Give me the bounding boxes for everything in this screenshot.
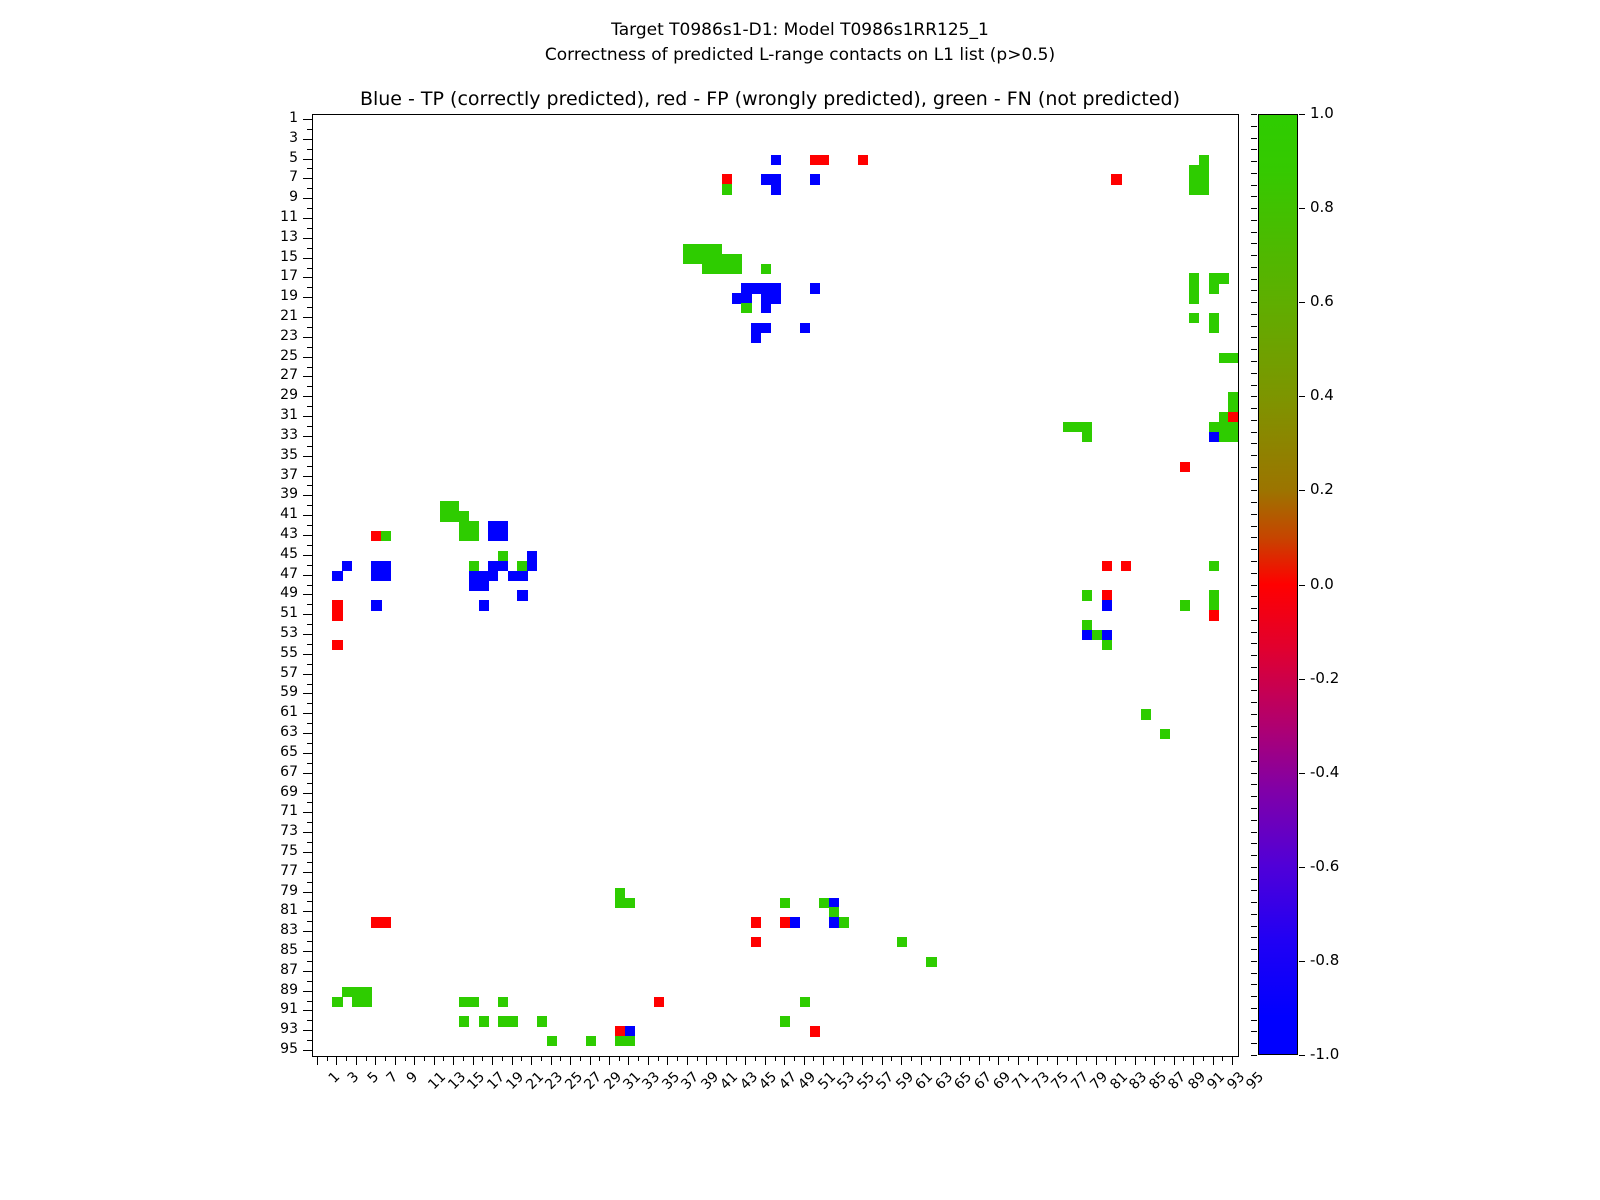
- y-axis-tick: [303, 119, 312, 120]
- y-axis-tick-label: 5: [238, 150, 298, 166]
- contact-cell: [1219, 353, 1229, 363]
- contact-cell: [722, 254, 732, 264]
- colorbar-tick: [1299, 302, 1305, 303]
- y-axis-tick-label: 13: [238, 229, 298, 245]
- y-axis-tick: [307, 585, 312, 586]
- y-axis-tick: [303, 951, 312, 952]
- contact-cell: [459, 531, 469, 541]
- contact-cell: [771, 293, 781, 303]
- contact-cell: [469, 571, 479, 581]
- y-axis-tick-label: 69: [238, 784, 298, 800]
- contact-cell: [810, 174, 820, 184]
- colorbar-minor-tick: [1251, 643, 1257, 644]
- contact-cell: [1219, 432, 1229, 442]
- legend-subtitle: Blue - TP (correctly predicted), red - F…: [0, 88, 1540, 110]
- x-axis-tick: [590, 1056, 591, 1065]
- colorbar-minor-tick: [1251, 596, 1257, 597]
- x-axis-tick: [658, 1056, 659, 1061]
- colorbar-minor-tick: [1251, 161, 1257, 162]
- colorbar-minor-tick: [1251, 220, 1257, 221]
- x-axis-tick: [551, 1056, 552, 1065]
- y-axis-tick: [307, 604, 312, 605]
- colorbar-minor-tick: [1251, 114, 1257, 115]
- contact-cell: [771, 174, 781, 184]
- y-axis-tick: [303, 515, 312, 516]
- colorbar-minor-tick: [1251, 867, 1257, 868]
- y-axis-tick: [303, 852, 312, 853]
- colorbar-minor-tick: [1251, 855, 1257, 856]
- contact-cell: [722, 264, 732, 274]
- x-axis-tick: [677, 1056, 678, 1061]
- contact-cell: [702, 254, 712, 264]
- contact-cell: [761, 323, 771, 333]
- y-axis-tick: [307, 743, 312, 744]
- y-axis-tick: [303, 436, 312, 437]
- x-axis-tick: [1193, 1056, 1194, 1065]
- x-axis-tick: [482, 1056, 483, 1061]
- contact-cell: [1082, 422, 1092, 432]
- colorbar-tick-label: -0.6: [1310, 857, 1339, 875]
- contact-cell: [1209, 283, 1219, 293]
- y-axis-tick-label: 37: [238, 467, 298, 483]
- y-axis-tick-label: 65: [238, 744, 298, 760]
- y-axis-tick: [307, 505, 312, 506]
- y-axis-tick: [303, 594, 312, 595]
- contact-cell: [615, 888, 625, 898]
- contact-cell: [712, 254, 722, 264]
- x-axis-tick: [512, 1056, 513, 1065]
- x-axis-tick: [1145, 1056, 1146, 1061]
- contact-cell: [1180, 600, 1190, 610]
- y-axis-tick-label: 61: [238, 704, 298, 720]
- y-axis-tick-label: 55: [238, 645, 298, 661]
- y-axis-tick-label: 83: [238, 922, 298, 938]
- colorbar-tick-label: 0.4: [1310, 386, 1334, 404]
- contact-cell: [1219, 273, 1229, 283]
- colorbar-minor-tick: [1251, 149, 1257, 150]
- y-axis-tick-label: 51: [238, 605, 298, 621]
- y-axis-tick: [307, 367, 312, 368]
- x-axis-tick: [1115, 1056, 1116, 1065]
- x-axis-tick: [1086, 1056, 1087, 1061]
- x-axis-tick: [716, 1056, 717, 1061]
- contact-cell: [1209, 561, 1219, 571]
- y-axis-tick: [307, 882, 312, 883]
- contact-cell: [332, 997, 342, 1007]
- x-axis-tick: [395, 1056, 396, 1065]
- contact-cell: [332, 610, 342, 620]
- colorbar-minor-tick: [1251, 984, 1257, 985]
- colorbar-minor-tick: [1251, 208, 1257, 209]
- colorbar-minor-tick: [1251, 314, 1257, 315]
- colorbar-tick: [1299, 208, 1305, 209]
- y-axis-tick: [307, 1020, 312, 1021]
- y-axis-tick: [307, 149, 312, 150]
- x-axis-tick: [405, 1056, 406, 1061]
- y-axis-tick: [307, 545, 312, 546]
- x-axis-tick-label: 3: [345, 1069, 363, 1087]
- y-axis-tick: [303, 812, 312, 813]
- colorbar-minor-tick: [1251, 620, 1257, 621]
- contact-cell: [829, 907, 839, 917]
- x-axis-tick: [1203, 1056, 1204, 1061]
- x-axis-tick: [813, 1056, 814, 1061]
- contact-cell: [926, 957, 936, 967]
- contact-cell: [498, 551, 508, 561]
- contact-cell: [586, 1036, 596, 1046]
- contact-cell: [488, 571, 498, 581]
- contact-cell: [371, 571, 381, 581]
- contact-cell: [1209, 313, 1219, 323]
- y-axis-tick: [307, 802, 312, 803]
- contact-cell: [1228, 392, 1238, 402]
- y-axis-tick-label: 57: [238, 665, 298, 681]
- y-axis-tick: [303, 337, 312, 338]
- contact-cell: [517, 561, 527, 571]
- y-axis-tick: [303, 396, 312, 397]
- contact-map-figure: Target T0986s1-D1: Model T0986s1RR125_1 …: [0, 0, 1600, 1200]
- contact-cell: [1209, 432, 1219, 442]
- y-axis-tick: [307, 981, 312, 982]
- y-axis-tick: [303, 238, 312, 239]
- contact-cell: [1141, 709, 1151, 719]
- colorbar-minor-tick: [1251, 655, 1257, 656]
- y-axis-tick-label: 47: [238, 566, 298, 582]
- contact-cell: [1189, 165, 1199, 175]
- colorbar-minor-tick: [1251, 196, 1257, 197]
- y-axis-tick: [307, 565, 312, 566]
- y-axis-tick-label: 67: [238, 764, 298, 780]
- colorbar-minor-tick: [1251, 737, 1257, 738]
- x-axis-tick: [1037, 1056, 1038, 1065]
- contact-cell: [508, 1016, 518, 1026]
- contact-cell: [459, 997, 469, 1007]
- contact-cell: [1209, 600, 1219, 610]
- contact-cell: [615, 898, 625, 908]
- contact-cell: [488, 561, 498, 571]
- colorbar-tick-label: 0.0: [1310, 575, 1334, 593]
- y-axis-tick-label: 27: [238, 367, 298, 383]
- contact-cell: [1082, 590, 1092, 600]
- x-axis-tick-label: 1: [325, 1069, 343, 1087]
- colorbar-tick: [1299, 396, 1305, 397]
- x-axis-tick: [794, 1056, 795, 1061]
- y-axis-tick-label: 89: [238, 982, 298, 998]
- x-axis-tick: [726, 1056, 727, 1065]
- x-axis-tick: [969, 1056, 970, 1061]
- x-axis-tick: [648, 1056, 649, 1065]
- contact-cell: [547, 1036, 557, 1046]
- title-line-2: Correctness of predicted L-range contact…: [0, 43, 1600, 68]
- colorbar-minor-tick: [1251, 514, 1257, 515]
- contact-cell: [332, 600, 342, 610]
- y-axis-tick: [303, 872, 312, 873]
- x-axis-tick: [872, 1056, 873, 1061]
- contact-cell: [332, 640, 342, 650]
- contact-cell: [1189, 313, 1199, 323]
- colorbar-tick: [1299, 679, 1305, 680]
- contact-cell: [1121, 561, 1131, 571]
- x-axis-tick: [1154, 1056, 1155, 1065]
- y-axis-tick-label: 87: [238, 962, 298, 978]
- y-axis-tick-label: 95: [238, 1041, 298, 1057]
- x-axis-tick: [667, 1056, 668, 1065]
- y-axis-tick: [307, 961, 312, 962]
- colorbar-minor-tick: [1251, 349, 1257, 350]
- colorbar-minor-tick: [1251, 467, 1257, 468]
- contact-cell: [440, 501, 450, 511]
- contact-cell: [771, 155, 781, 165]
- colorbar-minor-tick: [1251, 490, 1257, 491]
- colorbar-minor-tick: [1251, 702, 1257, 703]
- y-axis-tick: [303, 1050, 312, 1051]
- colorbar-minor-tick: [1251, 573, 1257, 574]
- x-axis-tick: [862, 1056, 863, 1065]
- x-axis-tick: [1164, 1056, 1165, 1061]
- x-axis-tick: [843, 1056, 844, 1065]
- contact-cell: [693, 254, 703, 264]
- colorbar-minor-tick: [1251, 632, 1257, 633]
- y-axis-tick: [303, 376, 312, 377]
- contact-cell: [1228, 412, 1238, 422]
- x-axis-tick: [560, 1056, 561, 1061]
- contact-cell: [1209, 273, 1219, 283]
- y-axis-tick: [307, 426, 312, 427]
- y-axis-tick: [307, 703, 312, 704]
- contact-cell: [722, 174, 732, 184]
- contact-cell: [839, 917, 849, 927]
- contact-cell: [761, 174, 771, 184]
- contact-cell: [440, 511, 450, 521]
- contact-cell: [810, 283, 820, 293]
- y-axis-tick-label: 81: [238, 902, 298, 918]
- colorbar-minor-tick: [1251, 773, 1257, 774]
- contact-cell: [508, 571, 518, 581]
- x-axis-tick: [327, 1056, 328, 1061]
- x-axis-tick: [1232, 1056, 1233, 1065]
- colorbar-minor-tick: [1251, 1008, 1257, 1009]
- contact-cell: [371, 600, 381, 610]
- contact-cell: [829, 898, 839, 908]
- x-axis-tick: [628, 1056, 629, 1065]
- colorbar-minor-tick: [1251, 502, 1257, 503]
- colorbar-minor-tick: [1251, 408, 1257, 409]
- contact-cell: [479, 600, 489, 610]
- contact-map-cells: [313, 115, 1238, 1056]
- contact-cell: [362, 997, 372, 1007]
- contact-cell: [469, 581, 479, 591]
- x-axis-tick: [424, 1056, 425, 1061]
- colorbar-tick: [1299, 1055, 1305, 1056]
- y-axis-tick: [303, 931, 312, 932]
- x-axis-tick: [706, 1056, 707, 1065]
- title-line-1: Target T0986s1-D1: Model T0986s1RR125_1: [0, 18, 1600, 43]
- contact-cell: [342, 561, 352, 571]
- x-axis-tick: [755, 1056, 756, 1061]
- contact-cell: [352, 997, 362, 1007]
- contact-cell: [751, 323, 761, 333]
- x-axis-tick: [1018, 1056, 1019, 1065]
- colorbar-minor-tick: [1251, 784, 1257, 785]
- contact-cell: [751, 333, 761, 343]
- colorbar: [1258, 114, 1298, 1055]
- colorbar-minor-tick: [1251, 961, 1257, 962]
- x-axis-tick: [521, 1056, 522, 1061]
- contact-cell: [469, 561, 479, 571]
- y-axis-tick: [303, 416, 312, 417]
- contact-cell: [459, 521, 469, 531]
- x-axis-tick: [1213, 1056, 1214, 1065]
- x-axis-tick: [745, 1056, 746, 1065]
- contact-cell: [751, 283, 761, 293]
- x-axis-tick: [443, 1056, 444, 1061]
- y-axis-tick: [303, 159, 312, 160]
- x-axis-tick: [784, 1056, 785, 1065]
- contact-cell: [702, 244, 712, 254]
- colorbar-minor-tick: [1251, 432, 1257, 433]
- contact-cell: [498, 997, 508, 1007]
- y-axis-tick-label: 33: [238, 427, 298, 443]
- colorbar-minor-tick: [1251, 914, 1257, 915]
- y-axis-tick: [303, 555, 312, 556]
- x-axis-tick: [492, 1056, 493, 1065]
- x-axis-tick: [960, 1056, 961, 1065]
- contact-cell: [1219, 422, 1229, 432]
- contact-cell: [381, 531, 391, 541]
- contact-cell: [1199, 155, 1209, 165]
- x-axis-tick: [531, 1056, 532, 1065]
- contact-cell: [654, 997, 664, 1007]
- colorbar-minor-tick: [1251, 302, 1257, 303]
- x-axis-tick: [950, 1056, 951, 1061]
- y-axis-tick: [307, 1040, 312, 1041]
- contact-cell: [780, 917, 790, 927]
- colorbar-minor-tick: [1251, 420, 1257, 421]
- y-axis-tick: [307, 921, 312, 922]
- contact-cell: [741, 293, 751, 303]
- x-axis-tick: [414, 1056, 415, 1065]
- contact-cell: [352, 987, 362, 997]
- y-axis-tick-label: 7: [238, 169, 298, 185]
- y-axis-tick-label: 43: [238, 526, 298, 542]
- y-axis-tick-label: 91: [238, 1001, 298, 1017]
- contact-cell: [527, 551, 537, 561]
- x-axis-tick: [638, 1056, 639, 1061]
- contact-cell: [1199, 184, 1209, 194]
- x-axis-tick-label: 5: [364, 1069, 382, 1087]
- colorbar-minor-tick: [1251, 267, 1257, 268]
- contact-cell: [1082, 630, 1092, 640]
- y-axis-tick: [303, 476, 312, 477]
- contact-cell: [1209, 323, 1219, 333]
- x-axis-tick: [502, 1056, 503, 1061]
- x-axis-tick: [852, 1056, 853, 1061]
- colorbar-minor-tick: [1251, 537, 1257, 538]
- contact-cell: [517, 571, 527, 581]
- x-axis-tick: [911, 1056, 912, 1061]
- contact-cell: [751, 937, 761, 947]
- contact-cell: [1209, 590, 1219, 600]
- colorbar-minor-tick: [1251, 996, 1257, 997]
- colorbar-minor-tick: [1251, 255, 1257, 256]
- colorbar-tick-label: -0.2: [1310, 669, 1339, 687]
- y-axis-tick: [303, 1010, 312, 1011]
- contact-cell: [625, 1036, 635, 1046]
- contact-cell: [381, 561, 391, 571]
- y-axis-tick: [307, 406, 312, 407]
- contact-cell: [1189, 283, 1199, 293]
- contact-cell: [741, 283, 751, 293]
- colorbar-tick-label: 1.0: [1310, 104, 1334, 122]
- y-axis-tick: [303, 674, 312, 675]
- y-axis-tick: [303, 575, 312, 576]
- contact-cell: [761, 293, 771, 303]
- y-axis-tick: [303, 456, 312, 457]
- contact-cell: [479, 581, 489, 591]
- y-axis-tick: [307, 485, 312, 486]
- y-axis-tick: [307, 644, 312, 645]
- y-axis-tick: [307, 347, 312, 348]
- x-axis-tick: [804, 1056, 805, 1065]
- y-axis-tick: [307, 723, 312, 724]
- contact-cell: [1092, 630, 1102, 640]
- y-axis-tick: [307, 624, 312, 625]
- y-axis-tick: [307, 168, 312, 169]
- y-axis-tick-label: 71: [238, 803, 298, 819]
- colorbar-tick-label: 0.6: [1310, 292, 1334, 310]
- y-axis-tick-label: 49: [238, 585, 298, 601]
- contact-cell: [683, 254, 693, 264]
- x-axis-tick: [998, 1056, 999, 1065]
- contact-cell: [732, 293, 742, 303]
- colorbar-minor-tick: [1251, 1055, 1257, 1056]
- y-axis-tick-label: 19: [238, 288, 298, 304]
- contact-cell: [1228, 353, 1238, 363]
- colorbar-minor-tick: [1251, 173, 1257, 174]
- colorbar-minor-tick: [1251, 361, 1257, 362]
- figure-title: Target T0986s1-D1: Model T0986s1RR125_1 …: [0, 18, 1600, 68]
- contact-cell: [761, 303, 771, 313]
- contact-cell: [693, 244, 703, 254]
- colorbar-minor-tick: [1251, 549, 1257, 550]
- y-axis-tick: [307, 664, 312, 665]
- colorbar-tick-label: -0.4: [1310, 763, 1339, 781]
- x-axis-tick: [317, 1056, 318, 1065]
- colorbar-minor-tick: [1251, 279, 1257, 280]
- x-axis-tick: [901, 1056, 902, 1065]
- colorbar-minor-tick: [1251, 843, 1257, 844]
- x-axis-tick: [1047, 1056, 1048, 1061]
- colorbar-tick: [1299, 114, 1305, 115]
- y-axis-tick-label: 73: [238, 823, 298, 839]
- colorbar-minor-tick: [1251, 949, 1257, 950]
- contact-cell: [1111, 174, 1121, 184]
- y-axis-tick-label: 9: [238, 189, 298, 205]
- x-axis-tick: [1222, 1056, 1223, 1061]
- colorbar-tick: [1299, 585, 1305, 586]
- contact-cell: [371, 561, 381, 571]
- contact-cell: [615, 1026, 625, 1036]
- colorbar-minor-tick: [1251, 832, 1257, 833]
- contact-cell: [810, 155, 820, 165]
- x-axis-tick-label: 9: [403, 1069, 421, 1087]
- colorbar-gradient: [1258, 114, 1298, 1055]
- colorbar-minor-tick: [1251, 761, 1257, 762]
- contact-cell: [800, 997, 810, 1007]
- colorbar-minor-tick: [1251, 585, 1257, 586]
- contact-cell: [800, 323, 810, 333]
- colorbar-minor-tick: [1251, 879, 1257, 880]
